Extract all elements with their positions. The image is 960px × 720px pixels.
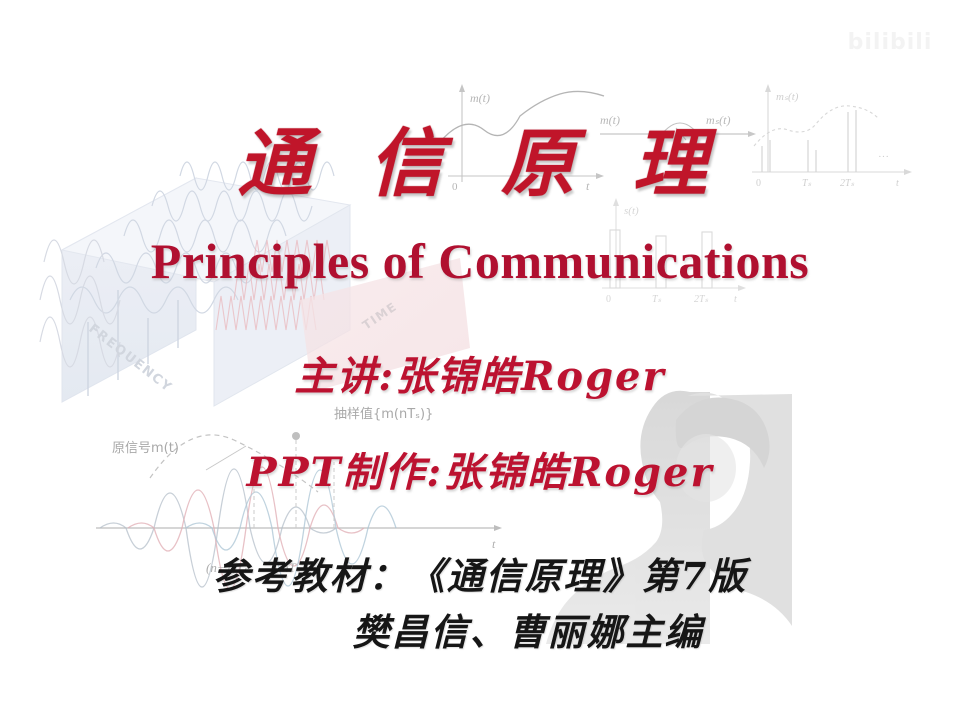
- slide-text-content: 通 信 原 理 Principles of Communications 主讲:…: [0, 0, 960, 720]
- page-title: 通 信 原 理: [0, 104, 960, 211]
- video-title-slide: FREQUENCY TIME m(t) t 0 m(: [0, 0, 960, 720]
- reference-textbook-authors: 樊昌信、曹丽娜主编: [0, 604, 960, 660]
- presenter-credit: 主讲:张锦皓Roger: [0, 344, 960, 402]
- reference-textbook-block: 参考教材：《通信原理》第7版 樊昌信、曹丽娜主编: [0, 548, 960, 660]
- reference-textbook-title: 参考教材：《通信原理》第7版: [0, 548, 960, 604]
- ppt-author-credit: PPT制作:张锦皓Roger: [0, 440, 960, 498]
- page-subtitle-english: Principles of Communications: [0, 232, 960, 290]
